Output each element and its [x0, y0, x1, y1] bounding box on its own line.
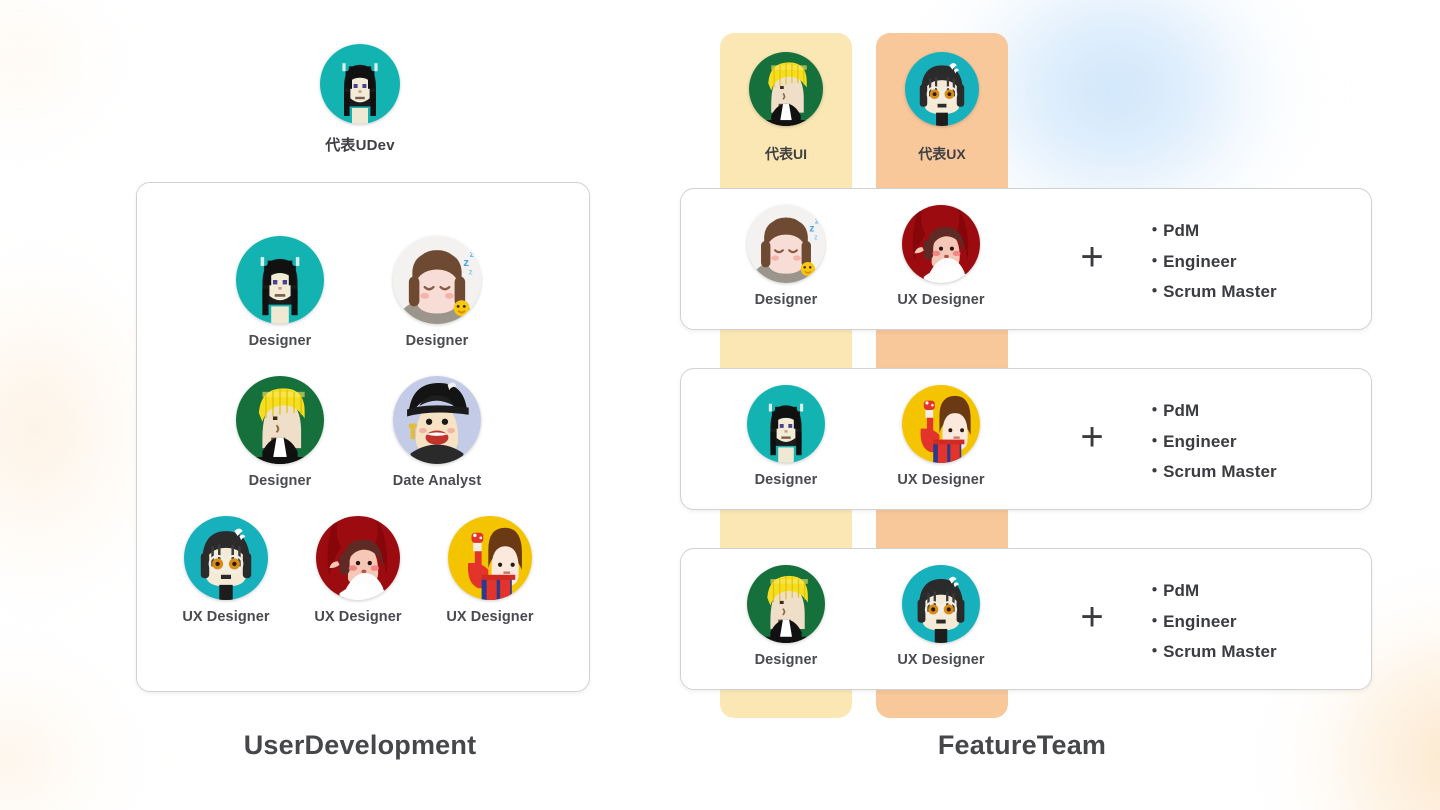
diagram-stage: 代表UDev Designer Designer Designer: [0, 0, 1440, 810]
member-ud-4[interactable]: Date Analyst: [377, 376, 497, 489]
avatar-white-sleepy-bath-icon: [747, 205, 825, 283]
member-ft-3-1-label: Designer: [726, 652, 846, 668]
role-item: ・PdM: [1146, 216, 1356, 247]
member-ft-2-2[interactable]: UX Designer: [881, 385, 1001, 488]
avatar-darkred-bob-icon: [902, 205, 980, 283]
member-ud-3[interactable]: Designer: [220, 376, 340, 489]
member-ud-6-label: UX Designer: [298, 609, 418, 625]
avatar-teal-darkhair-icon: [747, 385, 825, 463]
member-ud-7[interactable]: UX Designer: [430, 516, 550, 625]
plus-icon: +: [1070, 236, 1114, 280]
roles-list-3: ・PdM ・Engineer ・Scrum Master: [1146, 576, 1356, 668]
member-ft-2-2-label: UX Designer: [881, 472, 1001, 488]
member-ud-7-label: UX Designer: [430, 609, 550, 625]
member-ud-6[interactable]: UX Designer: [298, 516, 418, 625]
avatar-teal-glasses-icon: [905, 52, 979, 126]
roles-list-2: ・PdM ・Engineer ・Scrum Master: [1146, 396, 1356, 488]
member-ft-2-1-label: Designer: [726, 472, 846, 488]
member-ud-1[interactable]: Designer: [220, 236, 340, 349]
member-ud-1-label: Designer: [220, 333, 340, 349]
member-ud-2-label: Designer: [377, 333, 497, 349]
role-item: ・Scrum Master: [1146, 277, 1356, 308]
section-title-user-development: UserDevelopment: [160, 730, 560, 761]
section-title-feature-team: FeatureTeam: [822, 730, 1222, 761]
avatar-yellow-torch-icon: [902, 385, 980, 463]
avatar-teal-glasses-icon: [902, 565, 980, 643]
avatar-yellow-torch-icon: [448, 516, 532, 600]
member-ft-1-2[interactable]: UX Designer: [881, 205, 1001, 308]
member-ud-4-label: Date Analyst: [377, 473, 497, 489]
role-item: ・Engineer: [1146, 247, 1356, 278]
role-item: ・Scrum Master: [1146, 457, 1356, 488]
member-ud-5-label: UX Designer: [166, 609, 286, 625]
role-item: ・Scrum Master: [1146, 637, 1356, 668]
avatar-teal-darkhair-icon: [320, 44, 400, 124]
avatar-teal-glasses-icon: [184, 516, 268, 600]
plus-icon: +: [1070, 596, 1114, 640]
avatar-darkred-bob-icon: [316, 516, 400, 600]
user-development-column: 代表UDev Designer Designer Designer: [0, 0, 720, 810]
avatar-green-blonde-icon: [749, 52, 823, 126]
avatar-green-blonde-icon: [236, 376, 324, 464]
avatar-white-sleepy-bath-icon: [393, 236, 481, 324]
leader-udev-label: 代表UDev: [300, 134, 420, 155]
role-item: ・PdM: [1146, 576, 1356, 607]
leader-ui[interactable]: [749, 52, 823, 126]
leader-ui-label: 代表UI: [720, 144, 852, 164]
member-ft-1-1-label: Designer: [726, 292, 846, 308]
member-ft-3-2[interactable]: UX Designer: [881, 565, 1001, 668]
avatar-green-blonde-icon: [747, 565, 825, 643]
role-item: ・Engineer: [1146, 607, 1356, 638]
member-ft-1-1[interactable]: Designer: [726, 205, 846, 308]
member-ud-2[interactable]: Designer: [377, 236, 497, 349]
roles-list-1: ・PdM ・Engineer ・Scrum Master: [1146, 216, 1356, 308]
role-item: ・PdM: [1146, 396, 1356, 427]
leader-ux-label: 代表UX: [876, 144, 1008, 164]
avatar-teal-darkhair-icon: [236, 236, 324, 324]
role-item: ・Engineer: [1146, 427, 1356, 458]
plus-icon: +: [1070, 416, 1114, 460]
member-ft-1-2-label: UX Designer: [881, 292, 1001, 308]
member-ft-3-1[interactable]: Designer: [726, 565, 846, 668]
member-ud-3-label: Designer: [220, 473, 340, 489]
member-ud-5[interactable]: UX Designer: [166, 516, 286, 625]
leader-ux[interactable]: [905, 52, 979, 126]
leader-udev[interactable]: 代表UDev: [300, 44, 420, 155]
member-ft-3-2-label: UX Designer: [881, 652, 1001, 668]
member-ft-2-1[interactable]: Designer: [726, 385, 846, 488]
avatar-periwinkle-blackcap-icon: [393, 376, 481, 464]
